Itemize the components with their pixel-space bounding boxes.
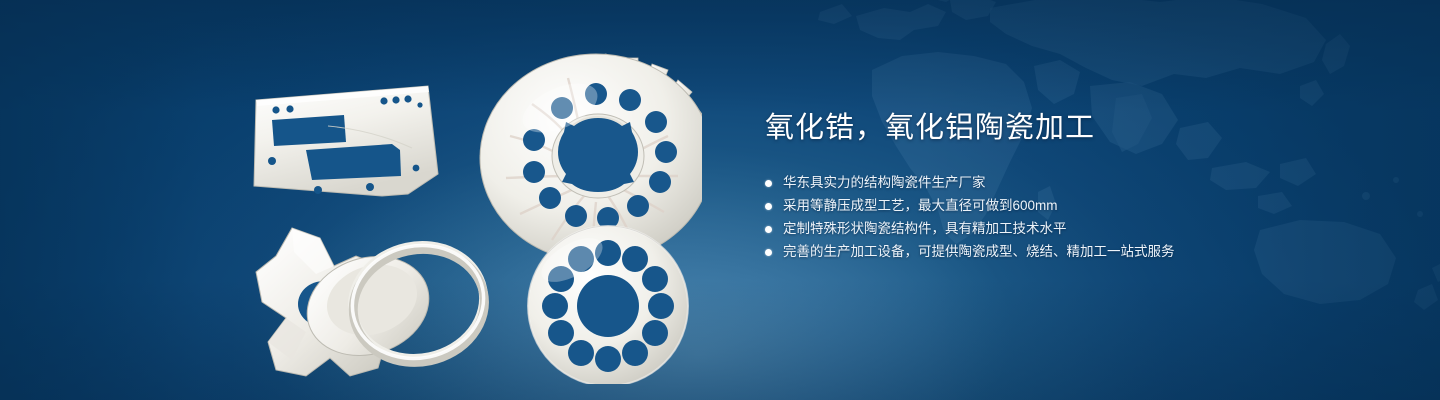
bullet-dot-icon	[765, 180, 772, 187]
feature-text: 采用等静压成型工艺，最大直径可做到600mm	[783, 195, 1058, 217]
list-item: 完善的生产加工设备，可提供陶瓷成型、烧结、精加工一站式服务	[765, 241, 1325, 263]
ceramic-perforated-disc	[528, 226, 688, 384]
list-item: 采用等静压成型工艺，最大直径可做到600mm	[765, 195, 1325, 217]
hero-banner: 氧化锆，氧化铝陶瓷加工 华东具实力的结构陶瓷件生产厂家 采用等静压成型工艺，最大…	[0, 0, 1440, 400]
feature-text: 华东具实力的结构陶瓷件生产厂家	[783, 172, 986, 194]
bullet-dot-icon	[765, 226, 772, 233]
feature-text: 完善的生产加工设备，可提供陶瓷成型、烧结、精加工一站式服务	[783, 241, 1175, 263]
ceramic-products-image	[232, 44, 702, 384]
list-item: 定制特殊形状陶瓷结构件，具有精加工技术水平	[765, 218, 1325, 240]
banner-copy: 氧化锆，氧化铝陶瓷加工 华东具实力的结构陶瓷件生产厂家 采用等静压成型工艺，最大…	[765, 108, 1325, 264]
feature-text: 定制特殊形状陶瓷结构件，具有精加工技术水平	[783, 218, 1067, 240]
page-title: 氧化锆，氧化铝陶瓷加工	[765, 108, 1325, 148]
bullet-dot-icon	[765, 249, 772, 256]
list-item: 华东具实力的结构陶瓷件生产厂家	[765, 172, 1325, 194]
feature-list: 华东具实力的结构陶瓷件生产厂家 采用等静压成型工艺，最大直径可做到600mm 定…	[765, 172, 1325, 263]
ceramic-mounting-plate	[254, 86, 438, 196]
bullet-dot-icon	[765, 203, 772, 210]
